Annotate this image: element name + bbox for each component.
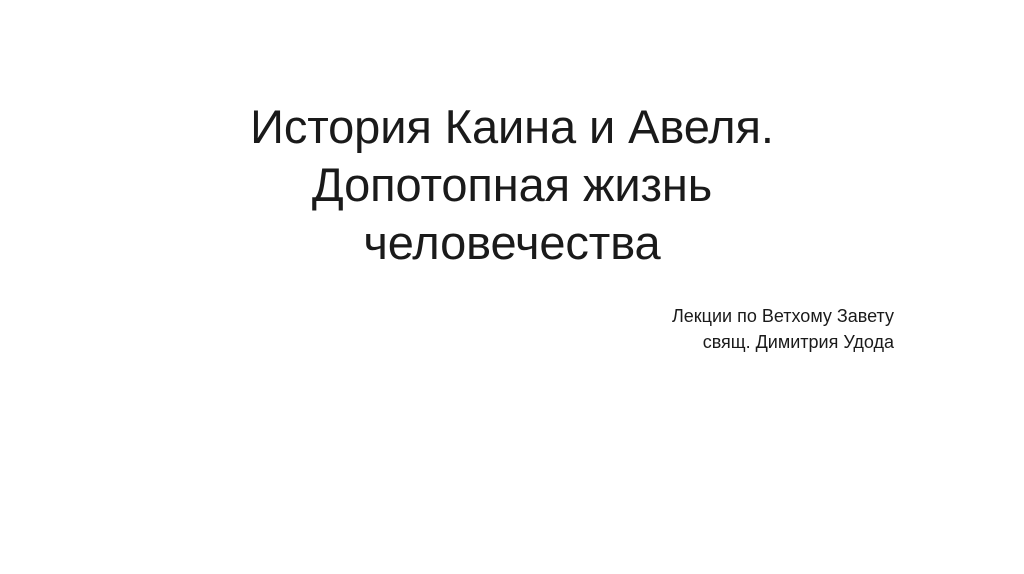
title-line-1: История Каина и Авеля.: [132, 98, 892, 156]
subtitle-line-1: Лекции по Ветхому Завету: [480, 303, 894, 329]
subtitle-line-2: свящ. Димитрия Удода: [480, 329, 894, 355]
slide-title: История Каина и Авеля. Допотопная жизнь …: [132, 98, 892, 272]
title-line-2: Допотопная жизнь: [132, 156, 892, 214]
slide-subtitle: Лекции по Ветхому Завету свящ. Димитрия …: [480, 303, 894, 355]
slide-canvas: История Каина и Авеля. Допотопная жизнь …: [0, 0, 1024, 574]
title-line-3: человечества: [132, 214, 892, 272]
